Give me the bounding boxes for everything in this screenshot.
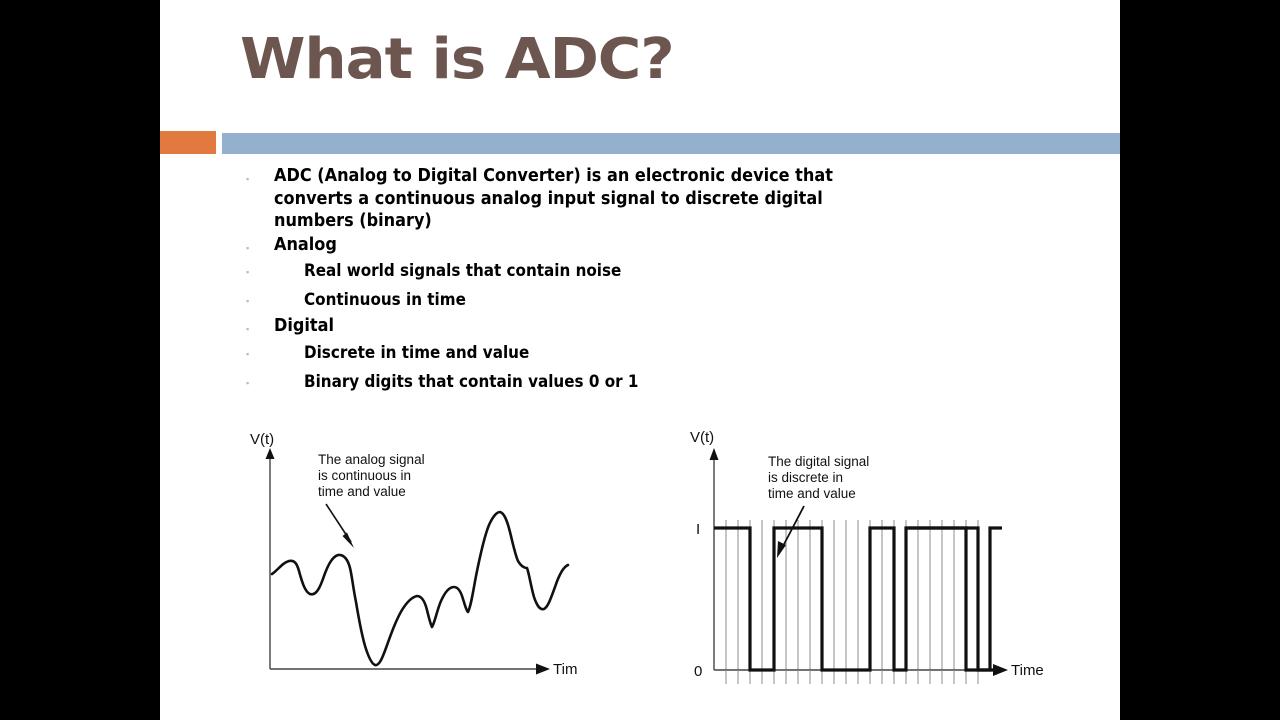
bullet-marker-icon: ▪: [246, 286, 304, 306]
analog-x-axis-label: Time: [553, 661, 578, 678]
list-item: ▪ Discrete in time and value: [246, 339, 1006, 367]
analog-y-axis-arrow-icon: [266, 448, 275, 459]
list-item: ▪ Analog: [246, 234, 1006, 257]
list-item: ▪ Real world signals that contain noise: [246, 257, 1006, 285]
accent-bar-blue: [222, 133, 1120, 154]
digital-y-axis-arrow-icon: [710, 448, 719, 460]
digital-grid: [726, 520, 978, 677]
analog-signal-figure: V(t) Time The analog signal is continuou…: [248, 424, 578, 694]
list-item: ▪ ADC (Analog to Digital Converter) is a…: [246, 165, 1006, 233]
digital-signal-figure: V(t): [690, 422, 1050, 694]
list-item-label: Continuous in time: [304, 286, 874, 314]
analog-waveform: [272, 512, 568, 665]
bullet-marker-icon: ▪: [246, 165, 274, 184]
accent-bar-orange: [160, 131, 216, 154]
analog-annotation-line-3: time and value: [318, 484, 406, 499]
list-item-label: ADC (Analog to Digital Converter) is an …: [274, 165, 900, 233]
analog-y-axis-label: V(t): [250, 431, 274, 448]
video-frame: What is ADC? ▪ ADC (Analog to Digital Co…: [0, 0, 1280, 720]
page-title: What is ADC?: [240, 20, 1046, 100]
digital-axis-ticks: [726, 670, 978, 684]
list-item: ▪ Continuous in time: [246, 286, 1006, 314]
list-item-label: Discrete in time and value: [304, 339, 874, 367]
digital-y-axis-label: V(t): [690, 429, 714, 446]
digital-high-level-label: I: [696, 521, 700, 538]
list-item: ▪ Binary digits that contain values 0 or…: [246, 368, 1006, 396]
bullet-marker-icon: ▪: [246, 339, 304, 359]
digital-low-level-label: 0: [694, 663, 702, 680]
bullet-list: ▪ ADC (Analog to Digital Converter) is a…: [246, 165, 1006, 397]
list-item-label: Digital: [274, 315, 900, 338]
list-item-label: Real world signals that contain noise: [304, 257, 874, 285]
bullet-marker-icon: ▪: [246, 368, 304, 388]
list-item: ▪ Digital: [246, 315, 1006, 338]
digital-annotation-line-3: time and value: [768, 486, 856, 501]
digital-x-axis-label: Time: [1011, 662, 1044, 679]
digital-annotation-line-1: The digital signal: [768, 454, 869, 469]
analog-annotation-line-1: The analog signal: [318, 452, 425, 467]
analog-x-axis-arrow-icon: [536, 664, 550, 675]
list-item-label: Analog: [274, 234, 900, 257]
list-item-label: Binary digits that contain values 0 or 1: [304, 368, 874, 396]
analog-annotation-arrow-icon: [343, 533, 355, 549]
bullet-marker-icon: ▪: [246, 257, 304, 277]
presentation-slide: What is ADC? ▪ ADC (Analog to Digital Co…: [160, 0, 1120, 720]
bullet-marker-icon: ▪: [246, 234, 274, 253]
bullet-marker-icon: ▪: [246, 315, 274, 334]
digital-annotation-line-2: is discrete in: [768, 470, 843, 485]
analog-annotation-line-2: is continuous in: [318, 468, 411, 483]
